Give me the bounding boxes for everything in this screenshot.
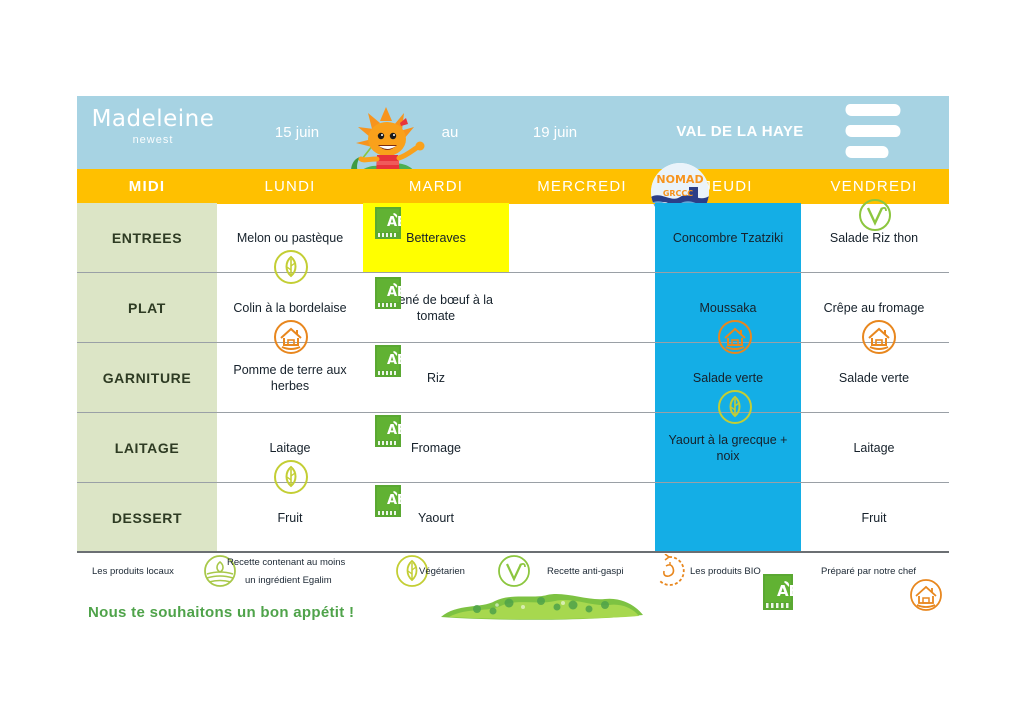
legend-label-egalim-line1: Recette contenant au moins <box>227 557 345 568</box>
legend-label-local: Les produits locaux <box>92 566 174 577</box>
row-label-dessert: DESSERT <box>77 483 217 553</box>
cell-text: Betteraves <box>400 230 472 246</box>
ab-bio-icon: AB <box>375 415 401 447</box>
cell-entrees-jeudi: Concombre Tzatziki <box>655 203 801 273</box>
cell-dessert-jeudi <box>655 483 801 553</box>
cell-text: Melon ou pastèque <box>231 230 349 246</box>
svg-text:AB: AB <box>387 285 401 300</box>
cell-text: Yaourt <box>412 510 460 526</box>
table-row-entrees: ENTREES Melon ou pastèque Betteraves Con… <box>77 203 949 273</box>
svg-text:GRCCC: GRCCC <box>663 189 693 198</box>
vegetarian-v-icon <box>497 554 531 588</box>
chef-house-icon <box>861 319 897 355</box>
cell-text: Yaourt à la grecque + noix <box>655 432 801 464</box>
egalim-leaf-icon <box>717 389 753 425</box>
cell-text: Fruit <box>272 510 309 526</box>
cell-text: Salade verte <box>687 370 769 386</box>
cell-laitage-vendredi: Laitage <box>801 413 947 483</box>
egalim-leaf-icon <box>273 459 309 495</box>
legend-label-vegetarien: Végétarien <box>419 566 465 577</box>
anti-gaspi-icon <box>652 554 686 588</box>
logo-main-text: Madeleine <box>88 108 218 131</box>
row-label-plat: PLAT <box>77 273 217 343</box>
svg-text:AB: AB <box>387 215 401 230</box>
cell-text: Laitage <box>263 440 316 456</box>
legend-label-egalim-line2: un ingrédient Egalim <box>245 575 332 586</box>
legend-label-anti-gaspi: Recette anti-gaspi <box>547 566 624 577</box>
ab-bio-icon: AB <box>375 485 401 517</box>
school-name: VAL DE LA HAYE <box>640 123 840 140</box>
egalim-leaf-icon <box>273 249 309 285</box>
day-header-mercredi: MERCREDI <box>509 169 655 203</box>
cell-text: Pomme de terre aux herbes <box>217 362 363 394</box>
menu-sheet: Madeleine newest 15 juin au 19 juin VAL … <box>0 0 1024 724</box>
day-header-row: MIDI LUNDI MARDI MERCREDI JEUDI VENDREDI <box>77 169 949 203</box>
chef-house-icon <box>717 319 753 355</box>
table-row-laitage: LAITAGE Laitage Fromage Yaourt à la grec… <box>77 413 949 483</box>
cell-dessert-mercredi <box>509 483 655 553</box>
ab-bio-icon: AB <box>763 574 793 610</box>
vegetarian-v-icon <box>857 197 893 233</box>
legend-label-bio: Les produits BIO <box>690 566 761 577</box>
menu-table: ENTREES Melon ou pastèque Betteraves Con… <box>77 203 949 552</box>
cell-text: Fruit <box>856 510 893 526</box>
date-from: 15 juin <box>252 124 342 141</box>
cell-text: Salade verte <box>833 370 915 386</box>
newrest-logo-icon <box>845 104 907 164</box>
cell-garniture-mercredi <box>509 343 655 413</box>
row-label-entrees: ENTREES <box>77 203 217 273</box>
day-header-mardi: MARDI <box>363 169 509 203</box>
cell-text: Laitage <box>847 440 900 456</box>
svg-text:AB: AB <box>387 423 401 438</box>
svg-text:NOMAD: NOMAD <box>656 173 703 186</box>
svg-text:AB: AB <box>387 493 401 508</box>
cell-dessert-vendredi: Fruit <box>801 483 947 553</box>
svg-text:AB: AB <box>387 353 401 368</box>
table-row-garniture: GARNITURE Pomme de terre aux herbes Riz … <box>77 343 949 413</box>
cell-text: Fromage <box>405 440 467 456</box>
ab-bio-icon: AB <box>375 345 401 377</box>
corner-label-midi: MIDI <box>77 169 217 203</box>
row-label-garniture: GARNITURE <box>77 343 217 413</box>
logo-sub-text: newest <box>88 134 218 146</box>
row-label-laitage: LAITAGE <box>77 413 217 483</box>
bon-appetit-message: Nous te souhaitons un bon appétit ! <box>88 604 354 621</box>
table-row-dessert: DESSERT Fruit Yaourt Fruit <box>77 483 949 553</box>
svg-text:AB: AB <box>777 582 793 600</box>
table-row-plat: PLAT Colin à la bordelaise Egrené de bœu… <box>77 273 949 343</box>
cell-text: Moussaka <box>694 300 763 316</box>
legend-label-chef: Préparé par notre chef <box>821 566 916 577</box>
ab-bio-icon: AB <box>375 277 401 309</box>
madeleine-logo: Madeleine newest <box>88 108 218 146</box>
cell-text: Colin à la bordelaise <box>227 300 352 316</box>
date-to: 19 juin <box>510 124 600 141</box>
chef-house-icon <box>909 578 943 612</box>
cell-entrees-mercredi <box>509 203 655 273</box>
day-header-lundi: LUNDI <box>217 169 363 203</box>
cell-text: Crêpe au fromage <box>818 300 931 316</box>
chef-house-icon <box>273 319 309 355</box>
cell-text: Concombre Tzatziki <box>667 230 789 246</box>
cell-laitage-mercredi <box>509 413 655 483</box>
cell-plat-mercredi <box>509 273 655 343</box>
cell-text: Riz <box>421 370 451 386</box>
ab-bio-icon: AB <box>375 207 401 239</box>
